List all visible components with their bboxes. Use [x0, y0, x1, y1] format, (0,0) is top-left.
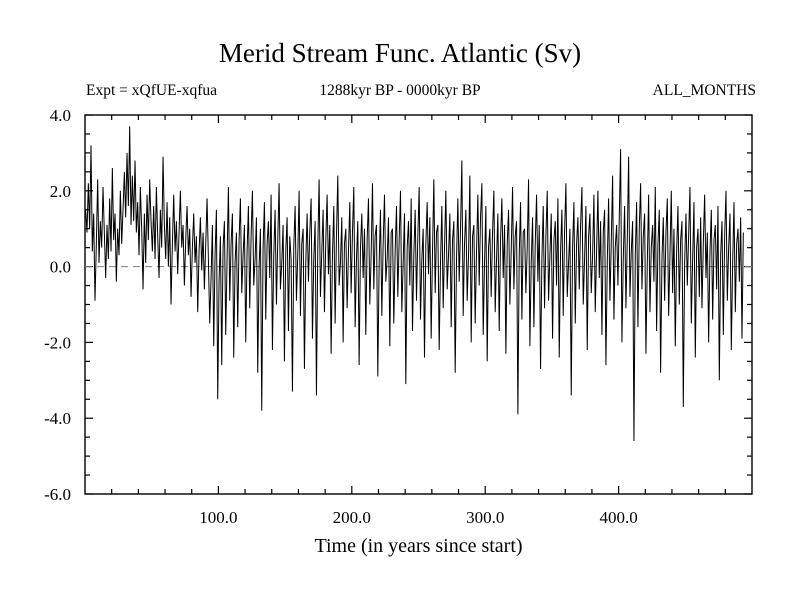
plot-frame: [85, 115, 752, 494]
y-tick-label: -6.0: [44, 485, 71, 504]
y-tick-label: 2.0: [50, 182, 71, 201]
y-tick-label: -4.0: [44, 409, 71, 428]
y-tick-label: -2.0: [44, 333, 71, 352]
y-tick-label: 4.0: [50, 106, 71, 125]
x-axis-title: Time (in years since start): [314, 535, 522, 557]
y-tick-label: 0.0: [50, 258, 71, 277]
x-tick-label: 300.0: [466, 508, 504, 527]
axis-title-layer: Time (in years since start): [314, 535, 522, 557]
chart-page: Merid Stream Func. Atlantic (Sv) Expt = …: [0, 0, 800, 600]
data-series-layer: [86, 126, 744, 441]
series-line-0: [86, 126, 744, 441]
axes-layer: [85, 115, 752, 494]
plot-svg: 4.02.00.0-2.0-4.0-6.0100.0200.0300.0400.…: [0, 0, 800, 600]
x-tick-label: 200.0: [333, 508, 371, 527]
plot-area: 4.02.00.0-2.0-4.0-6.0100.0200.0300.0400.…: [0, 0, 800, 600]
tick-label-layer: 4.02.00.0-2.0-4.0-6.0100.0200.0300.0400.…: [44, 106, 638, 527]
x-tick-label: 400.0: [599, 508, 637, 527]
x-tick-label: 100.0: [199, 508, 237, 527]
